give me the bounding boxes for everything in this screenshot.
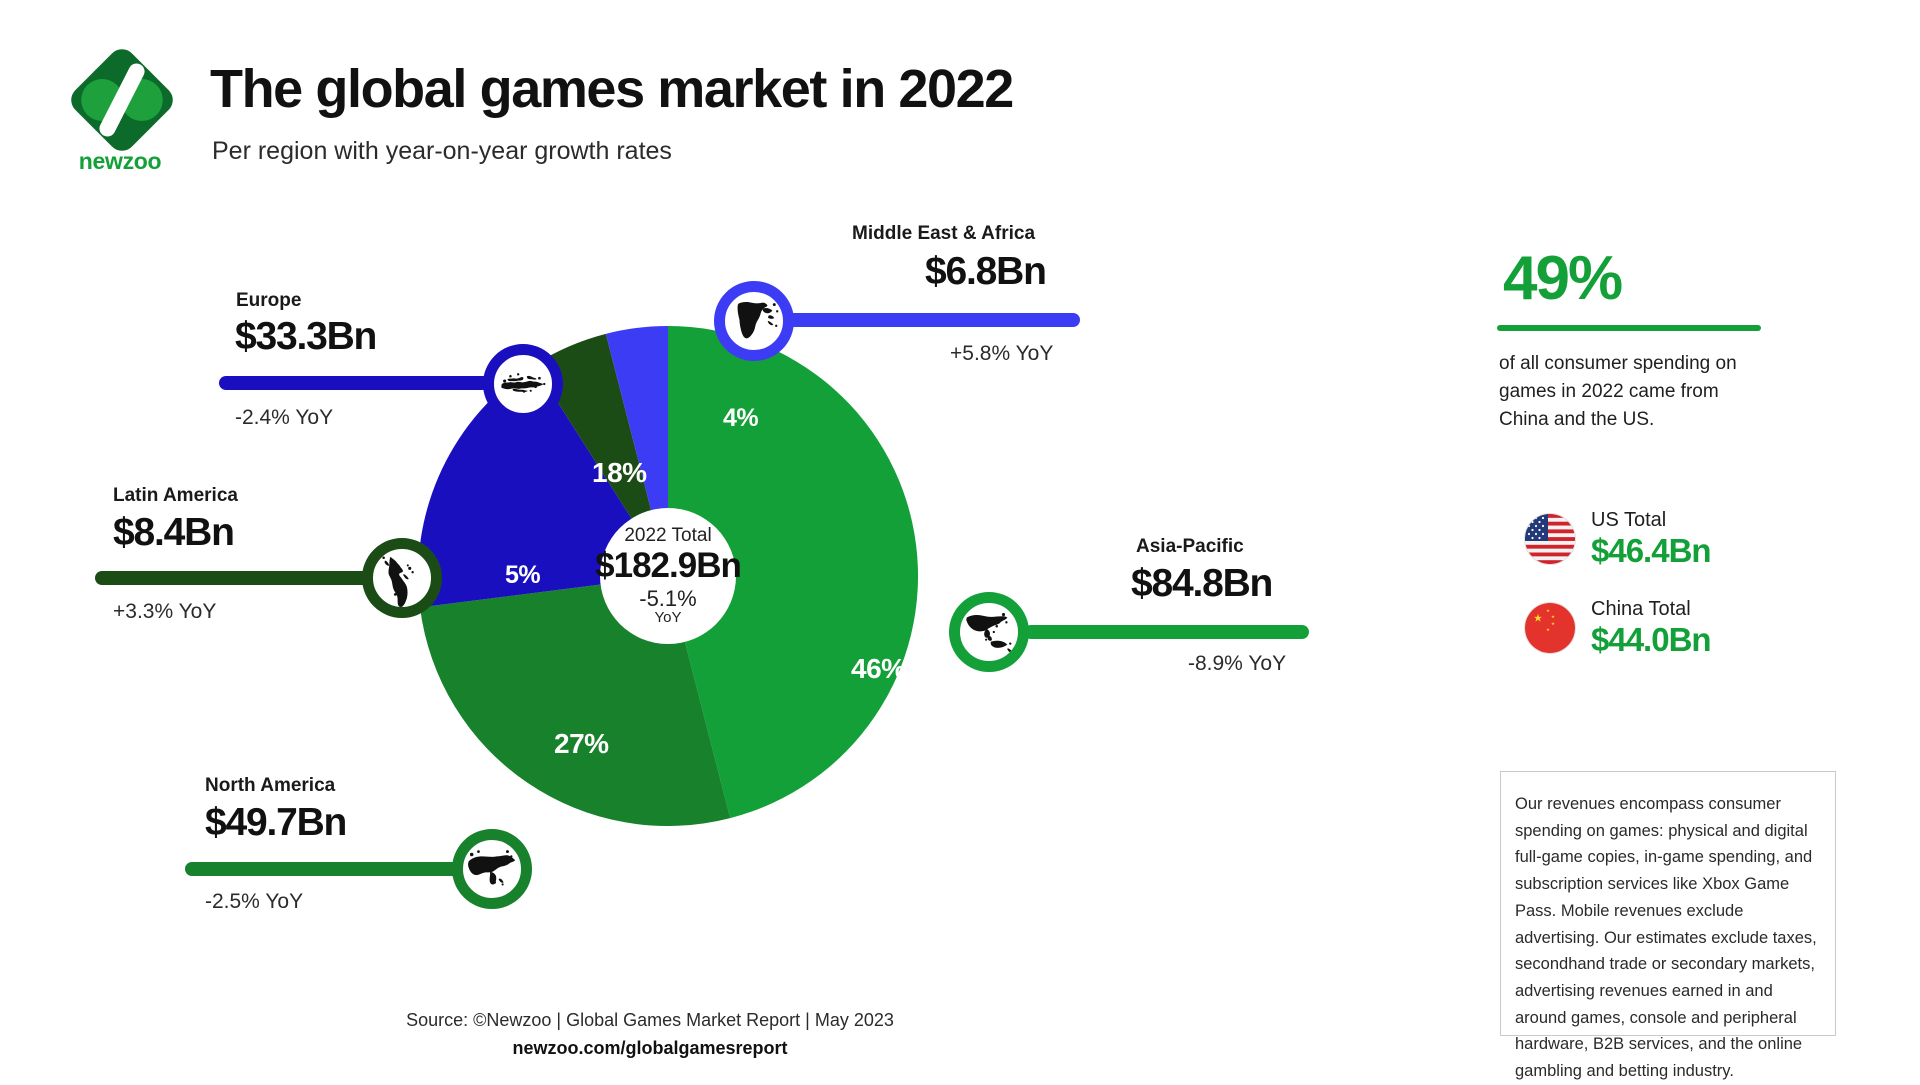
connector-leg-north-america	[185, 862, 470, 876]
connector-leg-middle-east-africa	[760, 313, 1080, 327]
donut-center-total-value: $182.9Bn	[595, 548, 741, 585]
country-total-value-us: $46.4Bn	[1591, 533, 1711, 569]
slice-label-latin-america: 5%	[505, 561, 540, 590]
page-subtitle: Per region with year-on-year growth rate…	[212, 137, 672, 166]
donut-center-yoy-unit: YoY	[655, 610, 682, 626]
china-flag-icon	[1525, 603, 1575, 653]
brand-wordmark: newzoo	[60, 148, 180, 175]
region-value-latin-america: $8.4Bn	[113, 511, 234, 555]
africa-middle-east-map-icon	[714, 281, 794, 361]
country-total-label-us: US Total	[1591, 508, 1711, 532]
connector-leg-asia-pacific	[1024, 625, 1309, 639]
region-value-north-america: $49.7Bn	[205, 801, 346, 845]
region-label-north-america: North America	[205, 775, 335, 797]
highlight-divider	[1497, 325, 1761, 331]
highlight-description: of all consumer spending on games in 202…	[1499, 350, 1749, 434]
region-value-middle-east-africa: $6.8Bn	[925, 250, 1046, 294]
us-flag-icon	[1525, 514, 1575, 564]
slice-label-middle-east-africa: 4%	[723, 404, 758, 433]
country-total-china: China Total $44.0Bn	[1525, 597, 1711, 658]
slice-label-north-america: 27%	[554, 728, 609, 760]
latin-america-map-icon	[362, 538, 442, 618]
donut-center-total: 2022 Total $182.9Bn -5.1% YoY	[600, 508, 736, 644]
region-yoy-europe: -2.4% YoY	[235, 406, 333, 430]
region-value-asia-pacific: $84.8Bn	[1131, 562, 1272, 606]
asia-pacific-map-icon	[949, 592, 1029, 672]
donut-center-yoy: -5.1%	[639, 587, 696, 610]
newzoo-diamond-logo	[66, 42, 178, 162]
region-label-latin-america: Latin America	[113, 485, 238, 507]
highlight-stat-percent: 49%	[1503, 243, 1621, 314]
connector-leg-latin-america	[95, 571, 385, 585]
page-title: The global games market in 2022	[210, 58, 1013, 120]
europe-map-icon	[483, 344, 563, 424]
region-yoy-latin-america: +3.3% YoY	[113, 600, 216, 624]
country-total-value-china: $44.0Bn	[1591, 622, 1711, 658]
country-total-us: US Total $46.4Bn	[1525, 508, 1711, 569]
report-url[interactable]: newzoo.com/globalgamesreport	[0, 1038, 1300, 1059]
region-yoy-north-america: -2.5% YoY	[205, 890, 303, 914]
source-line: Source: ©Newzoo | Global Games Market Re…	[0, 1010, 1300, 1031]
connector-leg-europe	[219, 376, 494, 390]
methodology-note-text: Our revenues encompass consumer spending…	[1515, 791, 1825, 1085]
region-label-asia-pacific: Asia-Pacific	[1136, 536, 1244, 558]
region-label-europe: Europe	[236, 290, 301, 312]
slice-label-asia-pacific: 46%	[851, 653, 906, 685]
region-label-middle-east-africa: Middle East & Africa	[852, 223, 1035, 245]
north-america-map-icon	[452, 829, 532, 909]
region-value-europe: $33.3Bn	[235, 315, 376, 359]
region-yoy-asia-pacific: -8.9% YoY	[1188, 652, 1286, 676]
region-yoy-middle-east-africa: +5.8% YoY	[950, 342, 1053, 366]
slice-label-europe: 18%	[592, 457, 647, 489]
country-total-label-china: China Total	[1591, 597, 1711, 621]
donut-center-caption: 2022 Total	[624, 526, 711, 546]
